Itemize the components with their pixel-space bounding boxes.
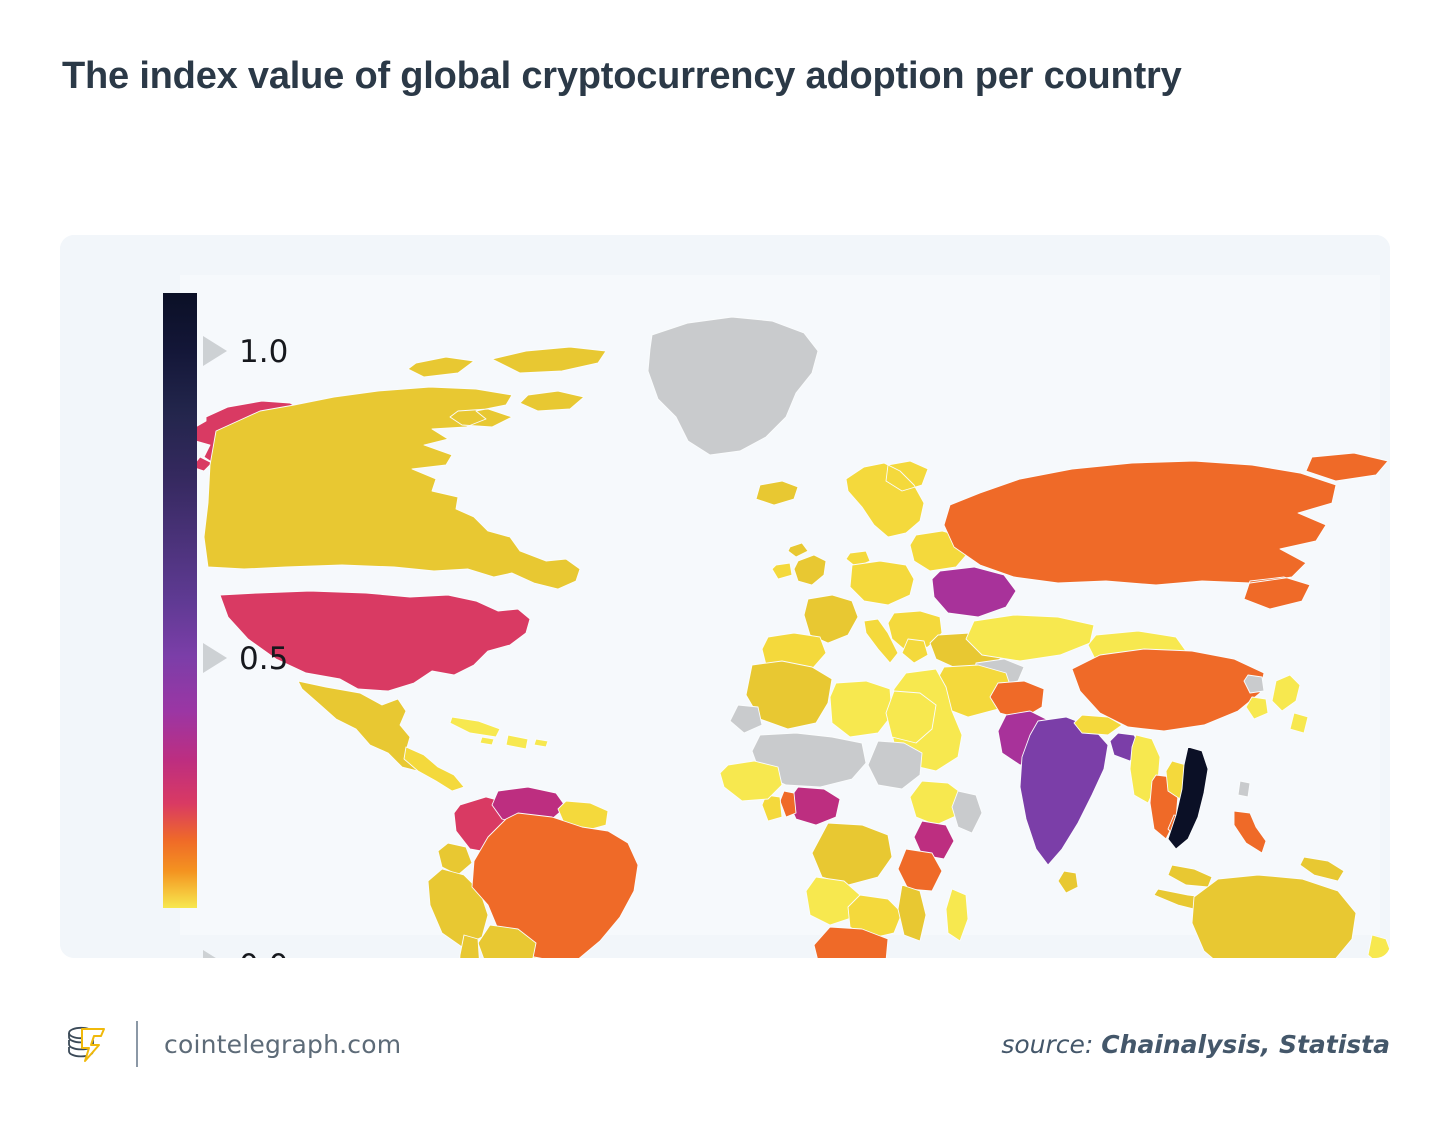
map-panel: 1.0 0.5 0.0 bbox=[60, 235, 1390, 958]
country-taiwan bbox=[1238, 781, 1250, 797]
cointelegraph-logo-icon bbox=[62, 1019, 112, 1069]
triangle-marker-icon bbox=[203, 643, 227, 673]
brand-block[interactable]: cointelegraph.com bbox=[62, 1019, 401, 1069]
legend-tick-label: 0.5 bbox=[239, 641, 288, 677]
page-title: The index value of global cryptocurrency… bbox=[62, 50, 1302, 104]
site-url[interactable]: cointelegraph.com bbox=[164, 1030, 401, 1059]
divider bbox=[136, 1021, 138, 1067]
source-prefix: source: bbox=[1001, 1030, 1101, 1059]
triangle-marker-icon bbox=[203, 950, 227, 958]
footer: cointelegraph.com source: Chainalysis, S… bbox=[62, 1005, 1390, 1083]
legend-ticks: 1.0 0.5 0.0 bbox=[163, 293, 363, 933]
infographic-root: The index value of global cryptocurrency… bbox=[0, 0, 1450, 1125]
country-jamaica bbox=[480, 737, 494, 745]
country-puerto-rico bbox=[534, 739, 548, 747]
source-names: Chainalysis, Statista bbox=[1101, 1030, 1390, 1059]
legend-tick-label: 0.0 bbox=[239, 948, 288, 958]
triangle-marker-icon bbox=[203, 336, 227, 366]
legend-tick-label: 1.0 bbox=[239, 334, 288, 370]
source-credit: source: Chainalysis, Statista bbox=[1001, 1030, 1390, 1059]
